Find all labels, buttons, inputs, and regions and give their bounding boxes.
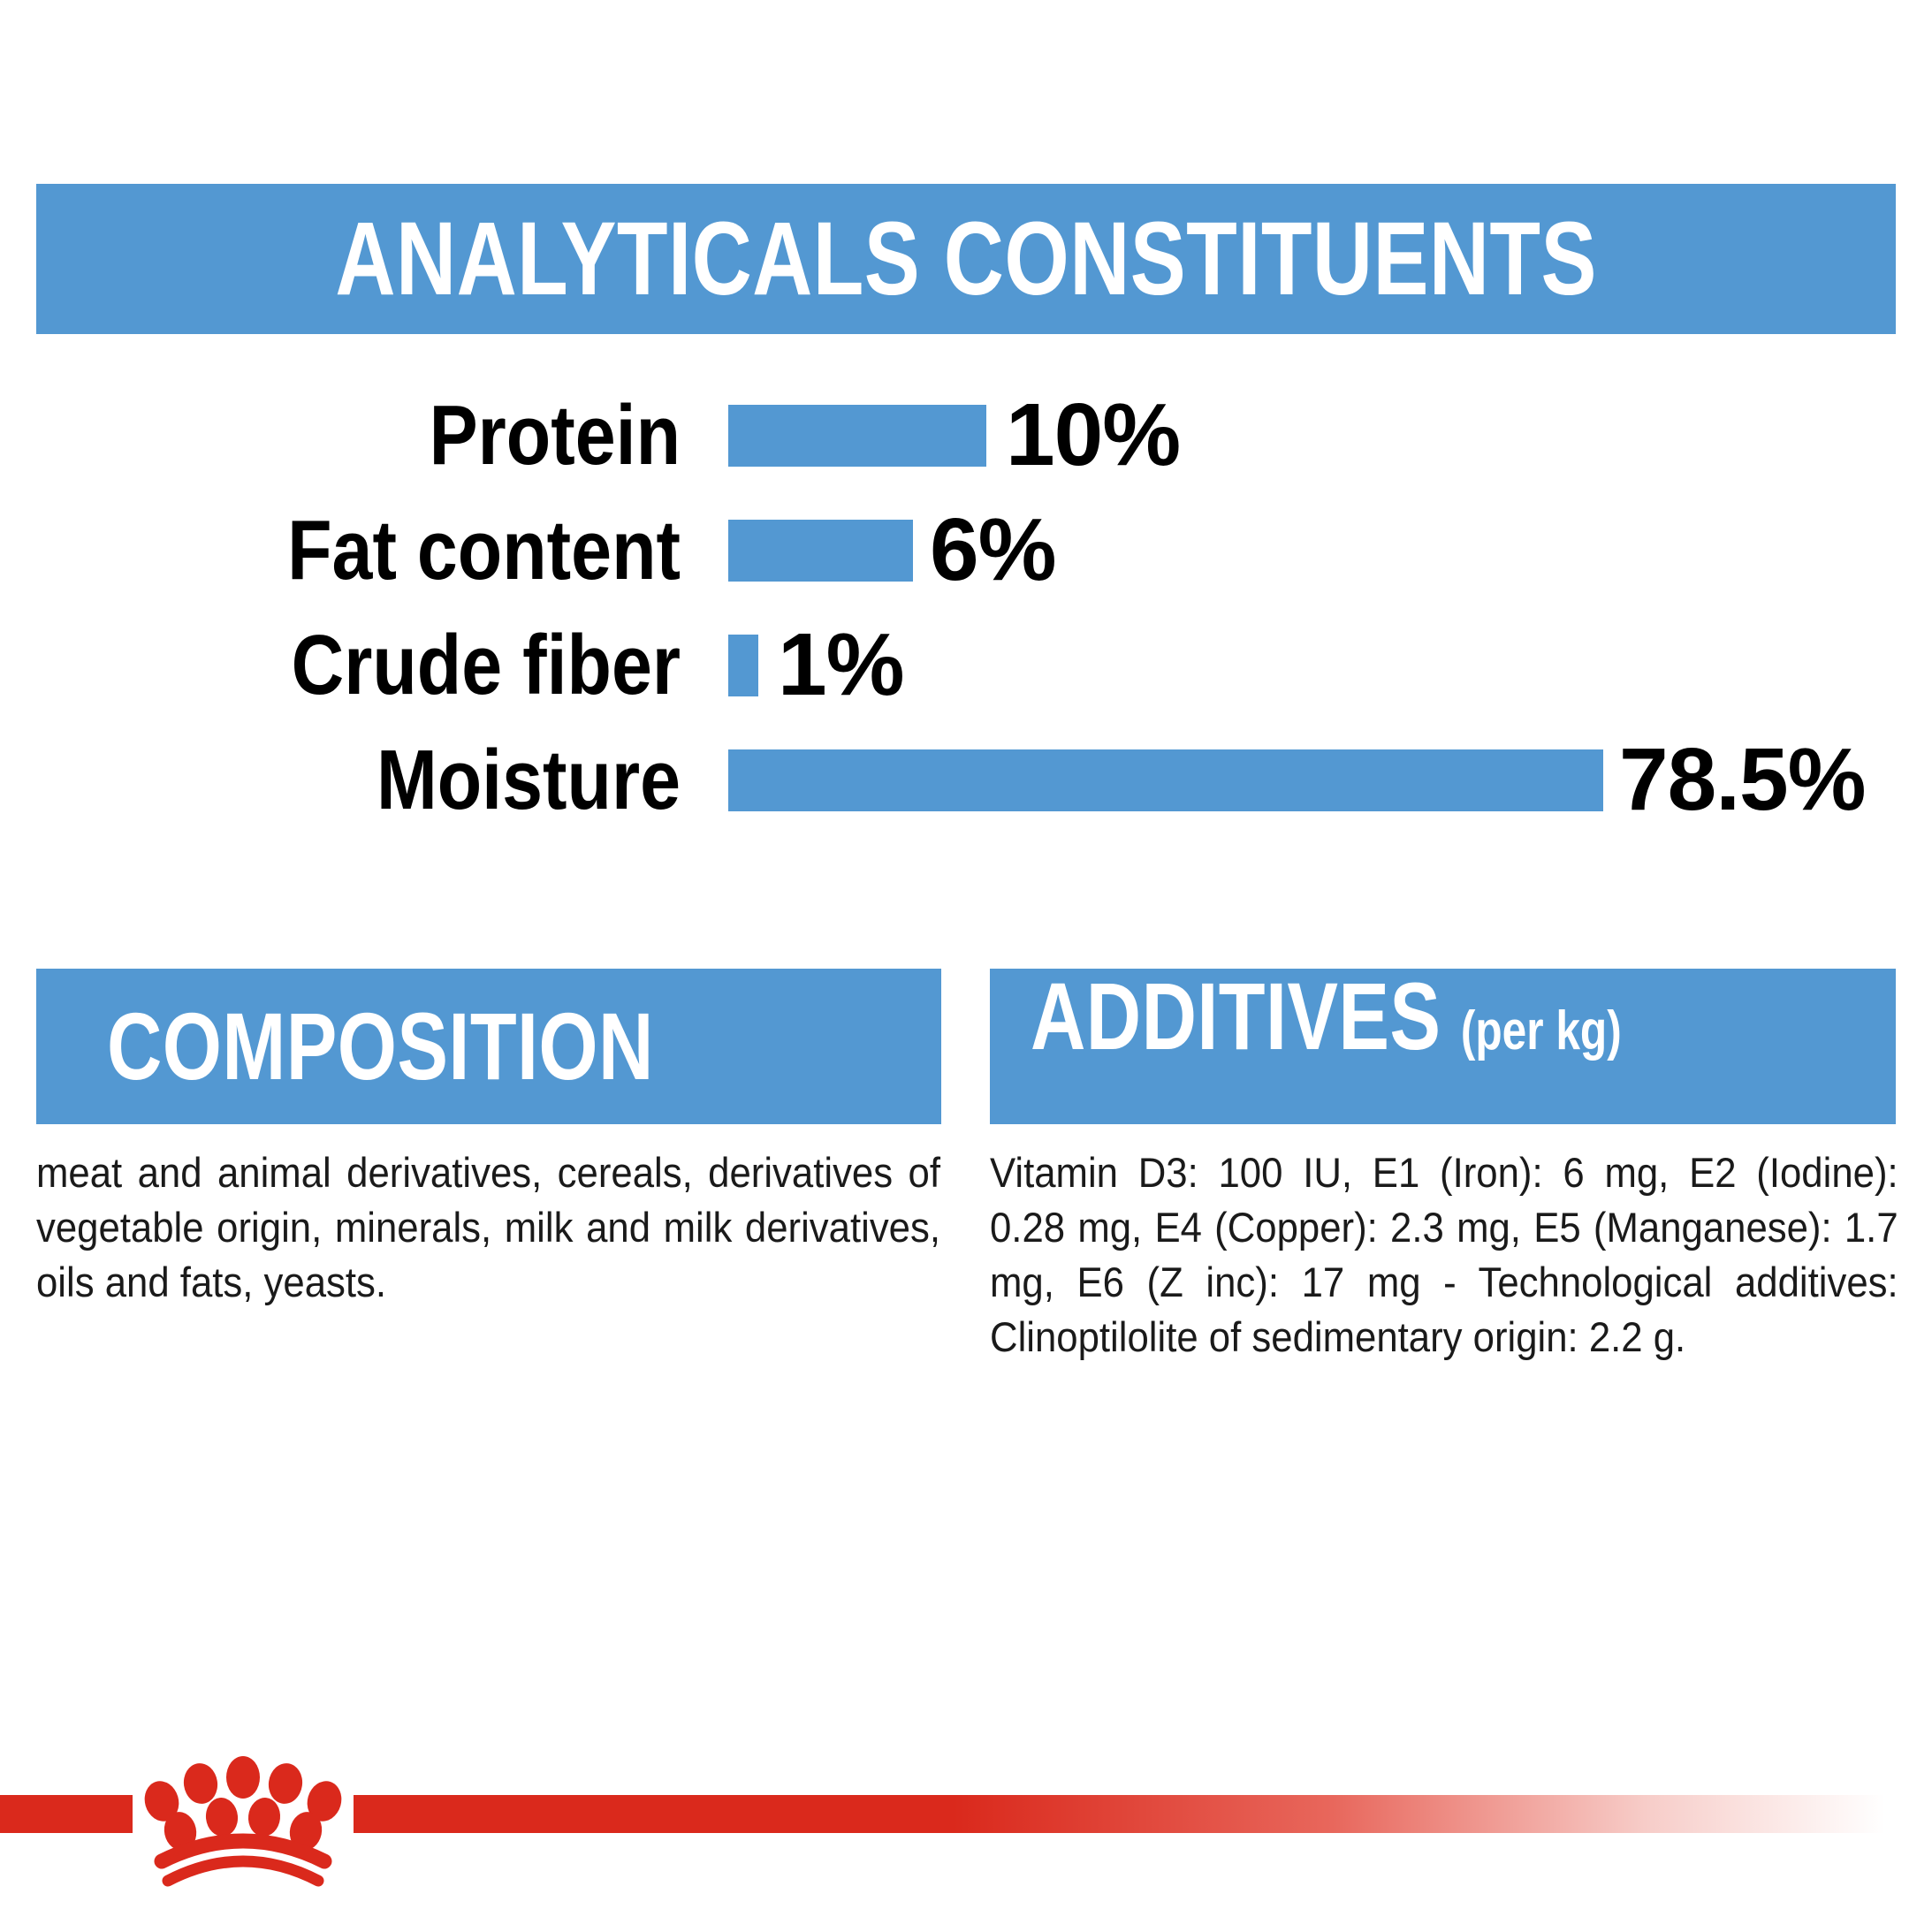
nutrient-bar-moisture	[728, 749, 1603, 811]
nutrient-value-fat-content: 6%	[930, 495, 1056, 605]
footer-rule-left	[0, 1795, 133, 1833]
table-row: Fat content 6%	[0, 495, 1932, 605]
nutrient-value-moisture: 78.5%	[1619, 725, 1866, 835]
composition-title: COMPOSITION	[107, 999, 654, 1094]
nutrient-label-protein: Protein	[95, 380, 681, 491]
product-label-page: ANALYTICALS CONSTITUENTS Protein 10% Fat…	[0, 0, 1932, 1932]
nutrient-bar-protein	[728, 405, 986, 467]
analyticals-constituents-banner: ANALYTICALS CONSTITUENTS	[36, 184, 1896, 334]
nutrient-label-moisture: Moisture	[95, 725, 681, 835]
table-row: Protein 10%	[0, 380, 1932, 491]
additives-text: Vitamin D3: 100 IU, E1 (Iron): 6 mg, E2 …	[990, 1145, 1898, 1365]
composition-banner: COMPOSITION	[36, 969, 941, 1124]
footer	[0, 1750, 1932, 1932]
table-row: Moisture 78.5%	[0, 725, 1932, 835]
nutrient-value-protein: 10%	[1006, 380, 1180, 491]
table-row: Crude fiber 1%	[0, 610, 1932, 720]
additives-banner: ADDITIVES (per kg)	[990, 969, 1896, 1124]
additives-unit-note: (per kg)	[1461, 1004, 1622, 1059]
royal-canin-crown-logo	[133, 1750, 354, 1891]
analyticals-bar-chart: Protein 10% Fat content 6% Crude fiber 1…	[0, 380, 1932, 857]
additives-title-row: ADDITIVES (per kg)	[1031, 969, 1622, 1064]
nutrient-bar-crude-fiber	[728, 635, 758, 696]
footer-rule-right	[354, 1795, 1932, 1833]
analyticals-constituents-title: ANALYTICALS CONSTITUENTS	[335, 207, 1596, 311]
nutrient-label-fat-content: Fat content	[95, 495, 681, 605]
nutrient-label-crude-fiber: Crude fiber	[95, 610, 681, 720]
composition-text: meat and animal derivatives, cereals, de…	[36, 1145, 940, 1310]
nutrient-bar-fat-content	[728, 520, 913, 582]
nutrient-value-crude-fiber: 1%	[778, 610, 904, 720]
additives-title: ADDITIVES	[1031, 969, 1441, 1064]
